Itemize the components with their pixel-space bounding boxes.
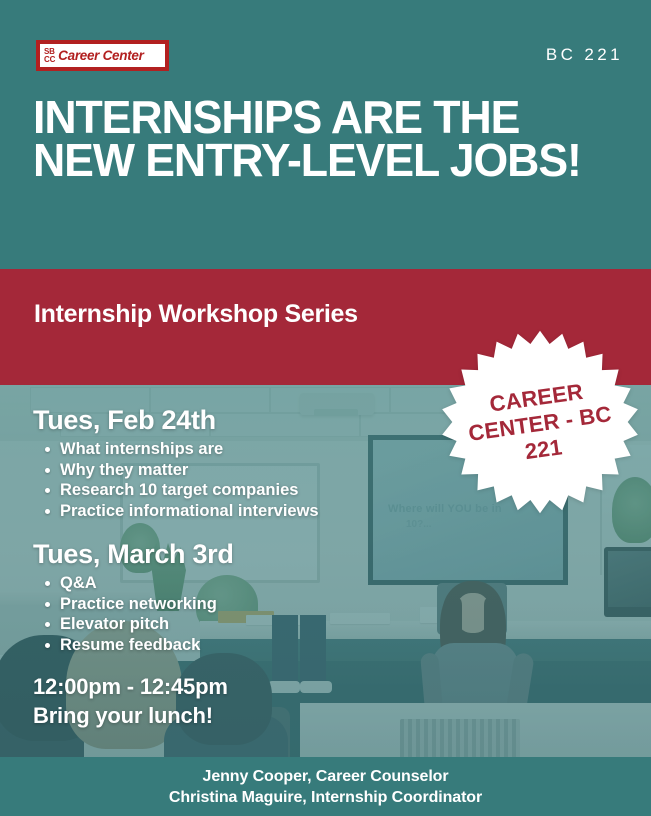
poster-flyer: Where will YOU be in 10?... — [0, 0, 651, 816]
list-item: What internships are — [33, 439, 319, 460]
list-item: Q&A — [33, 573, 234, 594]
schedule-day-2: Tues, March 3rd Q&A Practice networking … — [33, 538, 234, 655]
event-time-block: 12:00pm - 12:45pm Bring your lunch! — [33, 672, 228, 730]
poster-footer: Jenny Cooper, Career Counselor Christina… — [0, 757, 651, 816]
schedule-day-1-date: Tues, Feb 24th — [33, 404, 319, 436]
list-item: Elevator pitch — [33, 614, 234, 635]
list-item: Practice informational interviews — [33, 501, 319, 522]
page-title: INTERNSHIPS ARE THE NEW ENTRY-LEVEL JOBS… — [33, 96, 615, 182]
presenter-2: Christina Maguire, Internship Coordinato… — [169, 787, 482, 808]
event-time-range: 12:00pm - 12:45pm — [33, 672, 228, 701]
event-lunch-note: Bring your lunch! — [33, 701, 228, 730]
schedule-day-2-list: Q&A Practice networking Elevator pitch R… — [33, 573, 234, 655]
poster-header: SB CC Career Center BC 221 INTERNSHIPS A… — [0, 0, 651, 269]
workshop-series-title: Internship Workshop Series — [34, 298, 454, 330]
list-item: Practice networking — [33, 594, 234, 615]
schedule-day-2-date: Tues, March 3rd — [33, 538, 234, 570]
list-item: Resume feedback — [33, 635, 234, 656]
list-item: Why they matter — [33, 460, 319, 481]
schedule-day-1: Tues, Feb 24th What internships are Why … — [33, 404, 319, 521]
list-item: Research 10 target companies — [33, 480, 319, 501]
logo-line-cc: CC — [44, 56, 55, 64]
schedule-day-1-list: What internships are Why they matter Res… — [33, 439, 319, 521]
presenter-1: Jenny Cooper, Career Counselor — [203, 766, 449, 787]
starburst-text: CAREER CENTER - BC 221 — [428, 313, 651, 535]
logo-wordmark: Career Center — [58, 48, 143, 63]
starburst-line-3: 221 — [523, 434, 564, 465]
starburst-badge: CAREER CENTER - BC 221 — [441, 326, 639, 522]
sbcc-career-center-logo: SB CC Career Center — [36, 40, 169, 71]
sbcc-initials: SB CC — [44, 48, 55, 64]
room-code: BC 221 — [546, 45, 623, 65]
